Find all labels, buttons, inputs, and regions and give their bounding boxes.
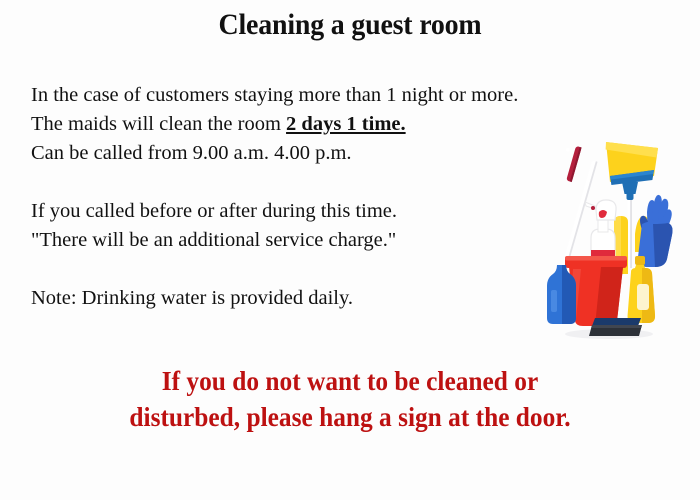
body-text-run: "There will be an additional service cha… bbox=[31, 229, 396, 251]
warning-line: If you do not want to be cleaned or bbox=[21, 363, 679, 399]
body-line: "There will be an additional service cha… bbox=[31, 226, 551, 255]
notice-canvas: Cleaning a guest room In the case of cus… bbox=[0, 0, 700, 500]
warning-message: If you do not want to be cleaned or dist… bbox=[0, 363, 700, 435]
notice-body: In the case of customers staying more th… bbox=[31, 81, 551, 313]
body-line: The maids will clean the room 2 days 1 t… bbox=[31, 110, 551, 139]
body-text-run: In the case of customers staying more th… bbox=[31, 84, 518, 106]
cleaning-supplies-illustration bbox=[543, 138, 673, 343]
paragraph-note: Note: Drinking water is provided daily. bbox=[31, 284, 551, 313]
body-line: If you called before or after during thi… bbox=[31, 197, 551, 226]
paragraph-stay-policy: In the case of customers staying more th… bbox=[31, 81, 551, 168]
body-text-emphasis: 2 days 1 time. bbox=[286, 113, 406, 135]
page-title: Cleaning a guest room bbox=[25, 8, 676, 42]
body-text-run: Can be called from 9.00 a.m. 4.00 p.m. bbox=[31, 142, 352, 164]
body-text-run: If you called before or after during thi… bbox=[31, 200, 397, 222]
paragraph-service-charge: If you called before or after during thi… bbox=[31, 197, 551, 255]
body-text-run: The maids will clean the room bbox=[31, 113, 286, 135]
body-line: Note: Drinking water is provided daily. bbox=[31, 284, 551, 313]
body-line: In the case of customers staying more th… bbox=[31, 81, 551, 110]
body-line: Can be called from 9.00 a.m. 4.00 p.m. bbox=[31, 139, 551, 168]
squeegee-icon bbox=[589, 318, 642, 336]
warning-line: disturbed, please hang a sign at the doo… bbox=[21, 399, 679, 435]
body-text-run: Note: Drinking water is provided daily. bbox=[31, 287, 353, 309]
